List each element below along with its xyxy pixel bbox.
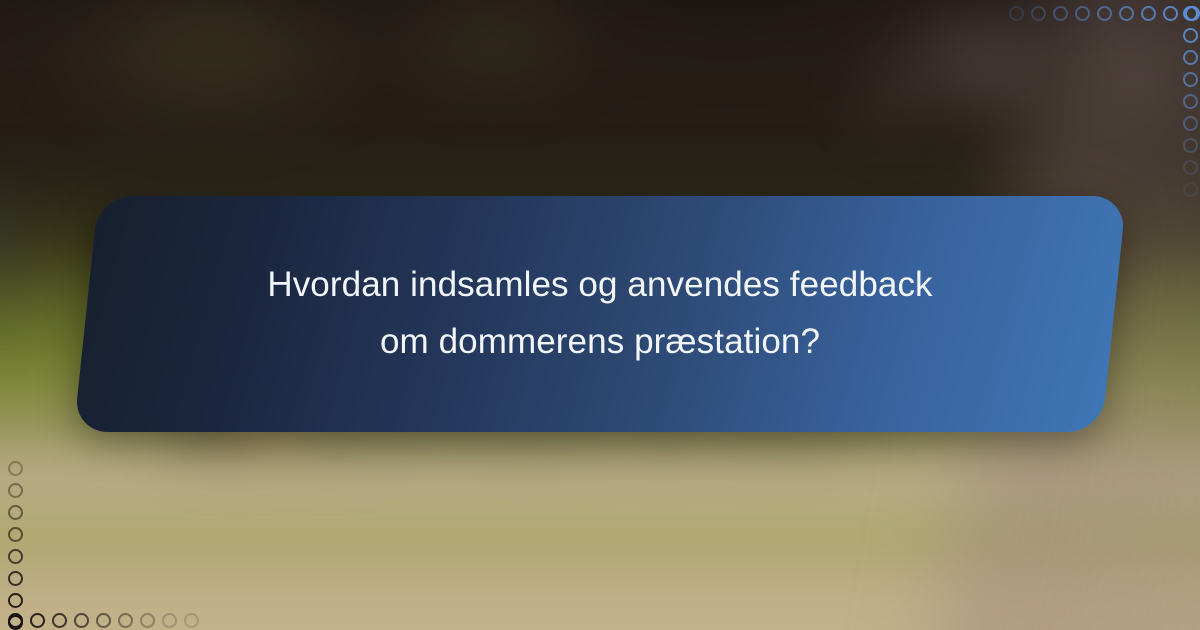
decor-dot	[52, 613, 67, 628]
decor-dot	[74, 613, 89, 628]
decor-dots-right-column	[1170, 0, 1200, 220]
question-line-1: Hvordan indsamles og anvendes feedback	[267, 257, 932, 314]
decor-dot	[1183, 138, 1198, 153]
decor-dot	[118, 613, 133, 628]
question-text-block: Hvordan indsamles og anvendes feedback o…	[86, 196, 1114, 432]
decor-dot	[140, 613, 155, 628]
decor-dot	[8, 549, 23, 564]
decor-dot	[184, 613, 199, 628]
decor-dot	[1119, 6, 1134, 21]
decor-dot	[1183, 6, 1198, 21]
decor-dot	[8, 461, 23, 476]
decor-dot	[8, 505, 23, 520]
decor-dot	[1075, 6, 1090, 21]
question-line-2: om dommerens præstation?	[380, 314, 820, 371]
decor-dot	[1141, 6, 1156, 21]
decor-dot	[1009, 6, 1024, 21]
decor-dot	[8, 571, 23, 586]
decor-dot	[1183, 72, 1198, 87]
decor-dot	[8, 483, 23, 498]
social-card-canvas: Hvordan indsamles og anvendes feedback o…	[0, 0, 1200, 630]
decor-dot	[8, 613, 23, 628]
decor-dots-top-right-row	[990, 0, 1200, 30]
decor-dot	[1097, 6, 1112, 21]
decor-dot	[1183, 116, 1198, 131]
decor-dot	[1031, 6, 1046, 21]
decor-dot	[1183, 160, 1198, 175]
decor-dot	[8, 527, 23, 542]
decor-dot	[1183, 94, 1198, 109]
decor-dot	[1183, 28, 1198, 43]
decor-dot	[1053, 6, 1068, 21]
decor-dot	[1183, 182, 1198, 197]
decor-dot	[1183, 50, 1198, 65]
decor-dot	[162, 613, 177, 628]
question-card: Hvordan indsamles og anvendes feedback o…	[74, 196, 1127, 432]
decor-dot	[30, 613, 45, 628]
decor-dots-bottom-left-row	[0, 600, 220, 630]
decor-dot	[96, 613, 111, 628]
